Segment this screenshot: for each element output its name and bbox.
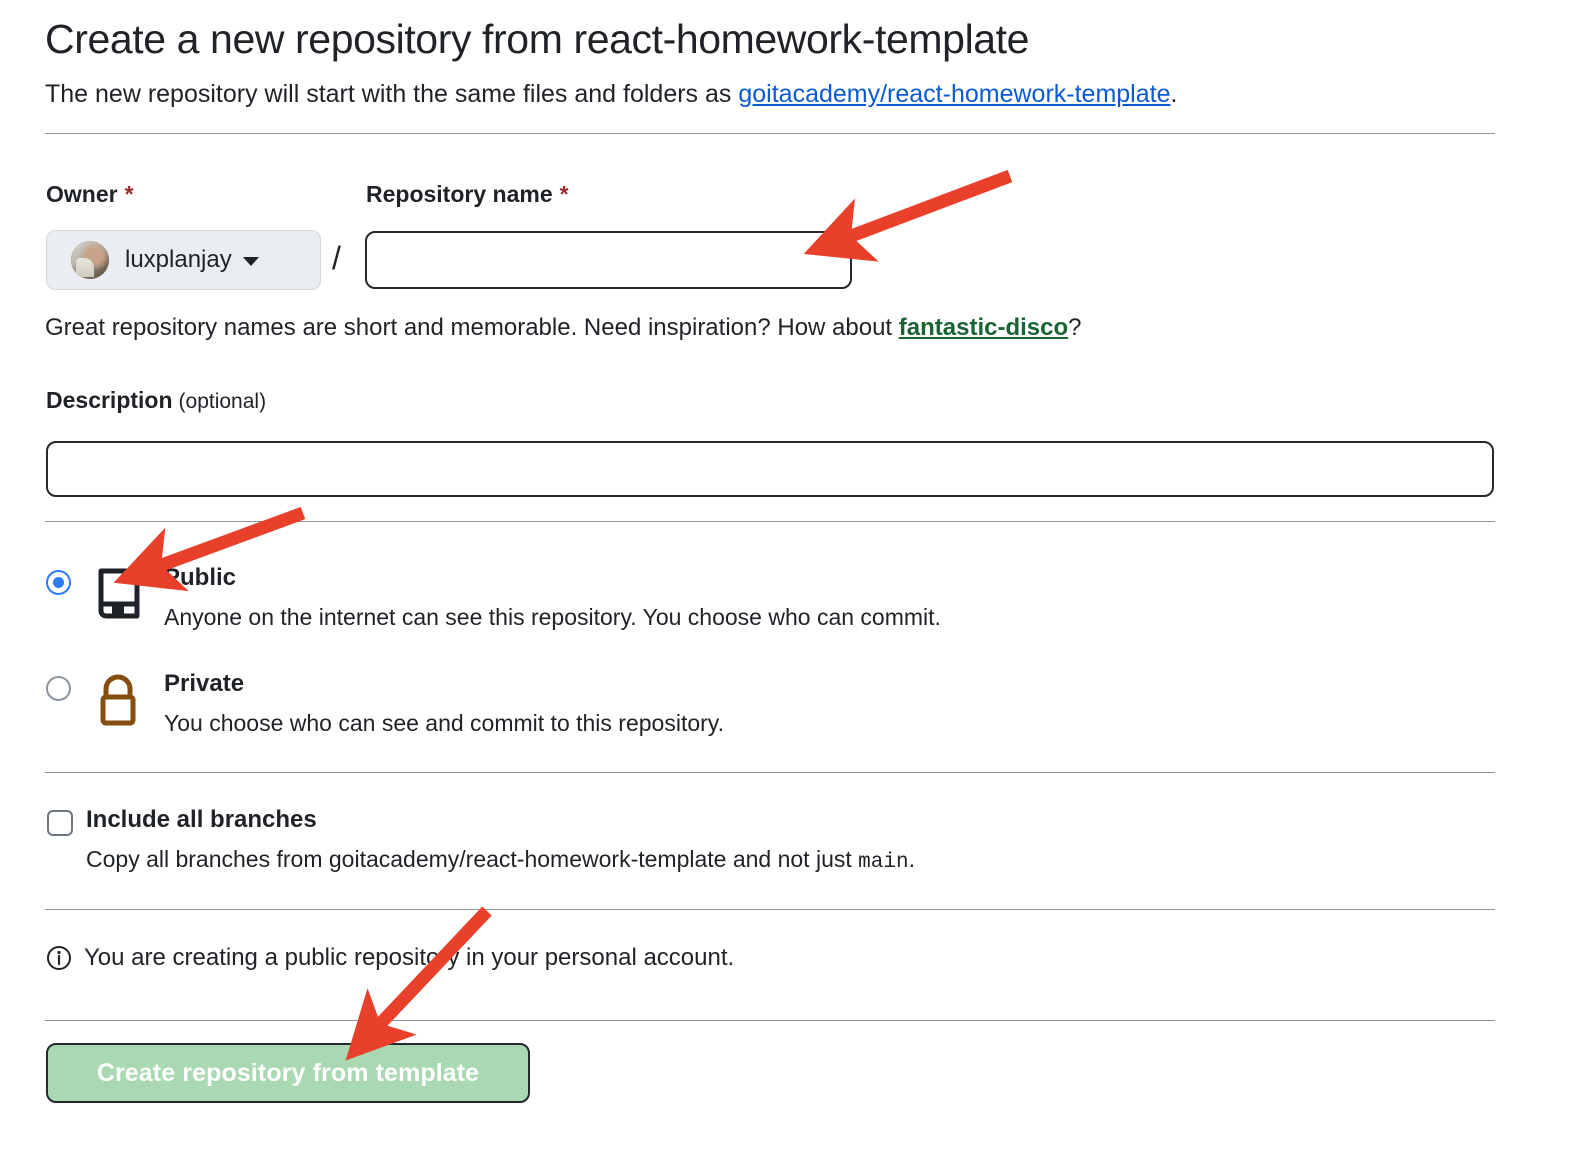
divider-submit: [45, 1020, 1495, 1021]
owner-name: luxplanjay: [125, 246, 232, 274]
description-optional-label: (optional): [179, 390, 267, 413]
subtitle-suffix: .: [1171, 80, 1178, 108]
default-branch-name: main: [858, 851, 908, 874]
visibility-public-description: Anyone on the internet can see this repo…: [164, 604, 941, 631]
lock-icon: [93, 672, 143, 728]
hint-prefix: Great repository names are short and mem…: [45, 314, 899, 341]
owner-label: Owner*: [46, 181, 134, 208]
page-title: Create a new repository from react-homew…: [45, 16, 1029, 63]
visibility-notice-text: You are creating a public repository in …: [84, 944, 734, 972]
repository-name-input[interactable]: [365, 231, 852, 289]
divider-visibility: [45, 521, 1495, 522]
avatar: [71, 241, 109, 279]
branches-desc-suffix: .: [909, 846, 915, 872]
visibility-private-description: You choose who can see and commit to thi…: [164, 710, 724, 737]
arrow-to-repo-name-input: [830, 176, 1010, 244]
branches-desc-prefix: Copy all branches from goitacademy/react…: [86, 846, 858, 872]
suggested-name-link[interactable]: fantastic-disco: [899, 314, 1068, 341]
owner-label-text: Owner: [46, 181, 118, 207]
repository-name-required-mark: *: [560, 181, 569, 207]
radio-public[interactable]: [46, 570, 71, 595]
include-all-branches-checkbox[interactable]: [47, 810, 73, 836]
create-repository-from-template-button[interactable]: Create repository from template: [46, 1043, 530, 1103]
template-repository-link[interactable]: goitacademy/react-homework-template: [738, 80, 1170, 108]
visibility-notice: You are creating a public repository in …: [46, 944, 734, 972]
divider-branches: [45, 772, 1495, 773]
divider-notice: [45, 909, 1495, 910]
create-repository-from-template-page: Create a new repository from react-homew…: [0, 0, 1594, 1152]
hint-suffix: ?: [1068, 314, 1081, 341]
annotation-arrows: [0, 0, 1594, 1152]
divider-header: [45, 133, 1495, 134]
description-input[interactable]: [46, 441, 1494, 497]
repository-name-label: Repository name*: [366, 181, 569, 208]
owner-repo-separator: /: [332, 240, 341, 277]
include-all-branches-description: Copy all branches from goitacademy/react…: [86, 846, 915, 874]
chevron-down-icon: [243, 257, 259, 266]
repo-book-icon: [93, 566, 143, 622]
subtitle-prefix: The new repository will start with the s…: [45, 80, 738, 108]
owner-dropdown-button[interactable]: luxplanjay: [46, 230, 321, 290]
radio-private[interactable]: [46, 676, 71, 701]
repository-name-hint: Great repository names are short and mem…: [45, 314, 1082, 342]
repository-name-label-text: Repository name: [366, 181, 553, 207]
description-label: Description(optional): [46, 387, 266, 414]
owner-required-mark: *: [125, 181, 134, 207]
description-label-text: Description: [46, 387, 173, 413]
include-all-branches-label: Include all branches: [86, 806, 317, 834]
page-subtitle: The new repository will start with the s…: [45, 80, 1177, 109]
visibility-public-title: Public: [164, 564, 236, 592]
visibility-private-title: Private: [164, 670, 244, 698]
info-icon: [46, 945, 72, 971]
